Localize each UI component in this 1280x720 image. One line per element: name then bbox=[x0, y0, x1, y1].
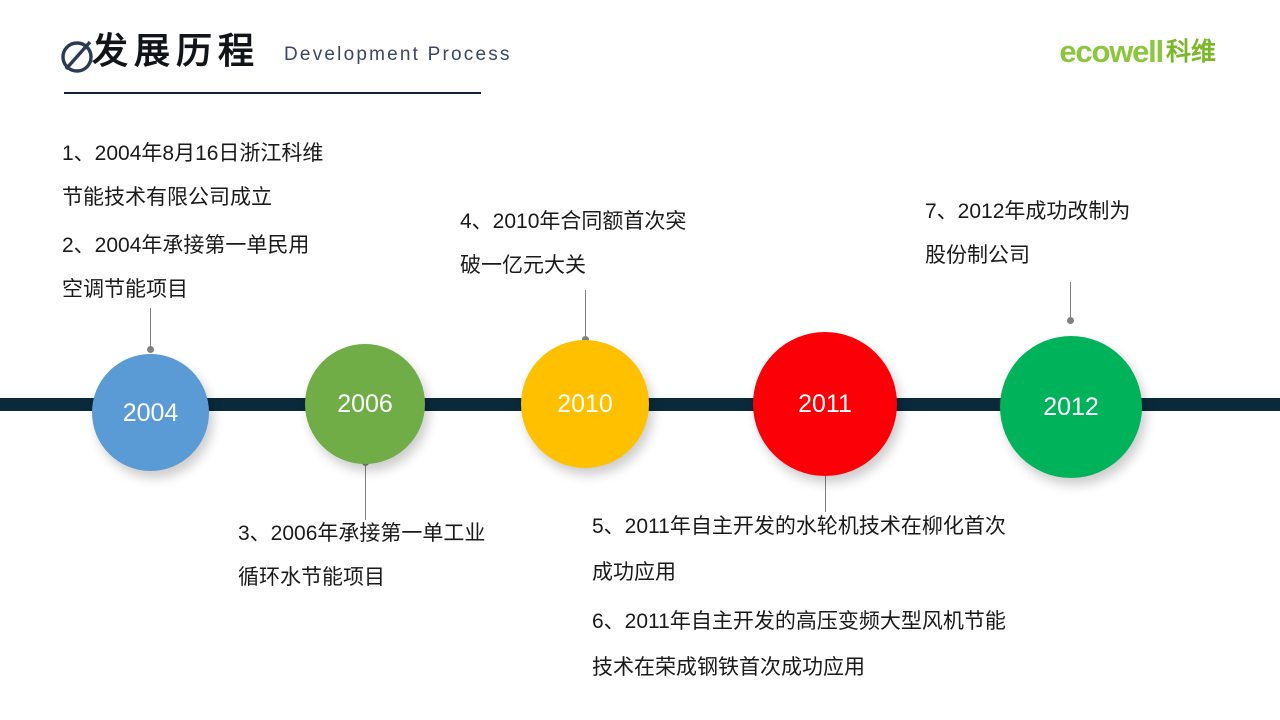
logo-chinese-name: 科维 bbox=[1166, 36, 1216, 68]
event-text-6-line-2: 技术在荣成钢铁首次成功应用 bbox=[592, 646, 865, 690]
event-text-3-line-1: 3、2006年承接第一单工业 bbox=[238, 512, 485, 556]
timeline-node-label: 2011 bbox=[798, 390, 852, 418]
event-text-7-line-1: 7、2012年成功改制为 bbox=[925, 190, 1130, 234]
connector-dot-2004 bbox=[147, 346, 154, 353]
event-text-5-line-1: 5、2011年自主开发的水轮机技术在柳化首次 bbox=[592, 505, 1006, 549]
timeline-node-label: 2004 bbox=[123, 399, 179, 427]
event-text-1-line-1: 1、2004年8月16日浙江科维 bbox=[62, 132, 323, 176]
event-text-7-line-2: 股份制公司 bbox=[925, 234, 1030, 278]
connector-dot-2012 bbox=[1067, 317, 1074, 324]
timeline-node-label: 2006 bbox=[337, 390, 393, 418]
timeline-node-2004[interactable]: 2004 bbox=[92, 354, 209, 471]
page-subtitle: Development Process bbox=[284, 44, 512, 66]
event-text-6-line-1: 6、2011年自主开发的高压变频大型风机节能 bbox=[592, 600, 1006, 644]
logo-wordmark: ecowell bbox=[1059, 36, 1163, 68]
header-divider bbox=[64, 92, 481, 94]
timeline-node-2006[interactable]: 2006 bbox=[305, 344, 425, 464]
timeline-node-label: 2010 bbox=[557, 390, 613, 418]
timeline-node-2012[interactable]: 2012 bbox=[1000, 336, 1142, 478]
timeline-node-2010[interactable]: 2010 bbox=[521, 340, 649, 468]
timeline-node-label: 2012 bbox=[1043, 393, 1099, 421]
connector-line-2004 bbox=[150, 308, 151, 350]
event-text-1-line-2: 节能技术有限公司成立 bbox=[62, 176, 272, 220]
timeline-node-2011[interactable]: 2011 bbox=[753, 332, 897, 476]
brand-logo: ecowell 科维 bbox=[1059, 36, 1216, 68]
slide: 发展历程 Development Process ecowell 科维 2004… bbox=[0, 0, 1280, 720]
event-text-4-line-1: 4、2010年合同额首次突 bbox=[460, 200, 686, 244]
event-text-4-line-2: 破一亿元大关 bbox=[460, 244, 586, 288]
event-text-2-line-1: 2、2004年承接第一单民用 bbox=[62, 224, 309, 268]
connector-line-2012 bbox=[1070, 282, 1071, 320]
connector-line-2010 bbox=[585, 290, 586, 340]
event-text-3-line-2: 循环水节能项目 bbox=[238, 556, 385, 600]
page-title: 发展历程 bbox=[92, 28, 260, 74]
event-text-2-line-2: 空调节能项目 bbox=[62, 268, 188, 312]
event-text-5-line-2: 成功应用 bbox=[592, 551, 676, 595]
